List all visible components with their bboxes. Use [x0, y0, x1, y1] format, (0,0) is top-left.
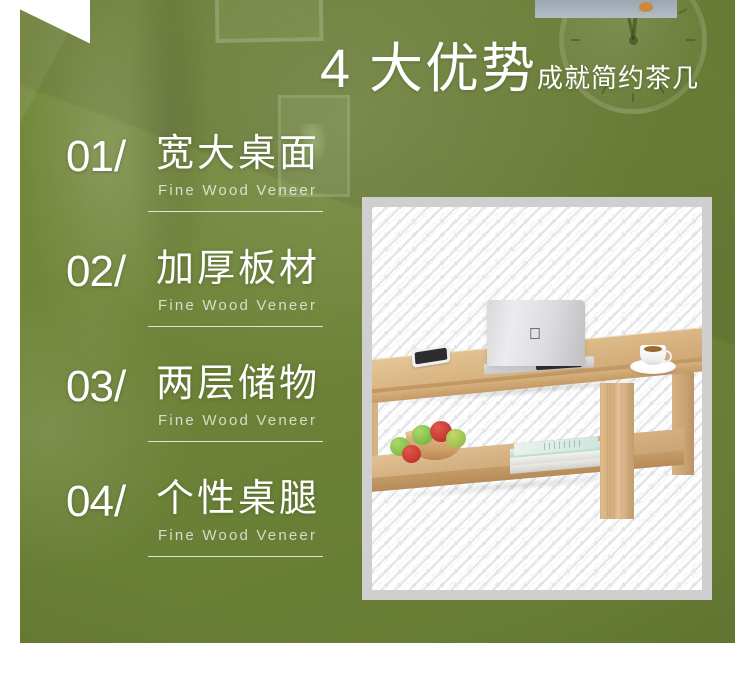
feature-subtitle-02: Fine Wood Veneer — [158, 297, 317, 314]
table-leg-front-right — [600, 383, 634, 519]
feature-slash-03: / — [114, 362, 125, 411]
feature-subtitle-04: Fine Wood Veneer — [158, 527, 317, 544]
feature-number-value-03: 03 — [66, 362, 113, 411]
feature-title-03: 两层储物 — [156, 362, 320, 408]
headline-suffix: 成就简约茶几 — [537, 63, 699, 93]
coffee-cup-icon — [640, 345, 666, 365]
feature-item-03: 03/ 两层储物 Fine Wood Veneer — [48, 355, 338, 470]
feature-item-04: 04/ 个性桌腿 Fine Wood Veneer — [48, 470, 338, 585]
fruit-bowl — [390, 419, 466, 461]
feature-slash-02: / — [114, 247, 125, 296]
feature-title-01: 宽大桌面 — [156, 132, 320, 178]
apple-red-1 — [402, 445, 421, 463]
corner-white-wedge — [20, 0, 90, 60]
apple-green-3 — [446, 429, 466, 448]
feature-subtitle-01: Fine Wood Veneer — [158, 182, 317, 199]
top-photo-strip — [535, 0, 677, 18]
promo-poster: 4 大优势成就简约茶几 01/ 宽大桌面 Fine Wood Veneer 02… — [20, 0, 735, 643]
feature-slash-04: / — [114, 477, 125, 526]
feature-number-02: 02/ — [66, 250, 125, 294]
feature-list: 01/ 宽大桌面 Fine Wood Veneer 02/ 加厚板材 Fine … — [48, 125, 338, 585]
feature-divider-02 — [148, 326, 323, 327]
headline-main: 4 大优势 — [320, 39, 537, 99]
feature-number-01: 01/ — [66, 135, 125, 179]
feature-title-02: 加厚板材 — [156, 247, 320, 293]
feature-divider-04 — [148, 556, 323, 557]
product-photo-card:  — [362, 197, 712, 600]
poster-headline: 4 大优势成就简约茶几 — [320, 42, 699, 96]
coffee-cup-set — [630, 345, 676, 375]
feature-number-04: 04/ — [66, 480, 125, 524]
feature-item-01: 01/ 宽大桌面 Fine Wood Veneer — [48, 125, 338, 240]
feature-item-02: 02/ 加厚板材 Fine Wood Veneer — [48, 240, 338, 355]
feature-divider-03 — [148, 441, 323, 442]
laptop:  — [484, 300, 588, 370]
apple-logo-icon:  — [528, 327, 542, 343]
feature-title-04: 个性桌腿 — [156, 477, 320, 523]
feature-number-03: 03/ — [66, 365, 125, 409]
feature-number-value-01: 01 — [66, 132, 113, 181]
feature-number-value-02: 02 — [66, 247, 113, 296]
feature-subtitle-03: Fine Wood Veneer — [158, 412, 317, 429]
book-stack — [510, 445, 602, 475]
product-photo:  — [372, 207, 702, 590]
feature-divider-01 — [148, 211, 323, 212]
feature-slash-01: / — [114, 132, 125, 181]
feature-number-value-04: 04 — [66, 477, 113, 526]
